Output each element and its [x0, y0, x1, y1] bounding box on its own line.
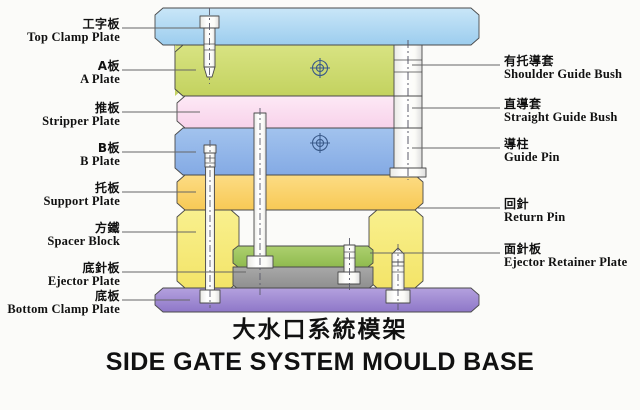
label-b-plate-cn: B板	[0, 142, 120, 155]
label-straight-guide-bush-cn: 直導套	[504, 98, 640, 111]
label-ejector-plate-cn: 底針板	[0, 262, 120, 275]
label-top-clamp-plate: 工字板 Top Clamp Plate	[0, 18, 120, 44]
label-guide-pin-en: Guide Pin	[504, 151, 640, 164]
label-ejector-retainer-plate: 面針板 Ejector Retainer Plate	[504, 243, 640, 269]
label-support-plate: 托板 Support Plate	[0, 182, 120, 208]
label-ejector-plate: 底針板 Ejector Plate	[0, 262, 120, 288]
label-return-pin: 回針 Return Pin	[504, 198, 640, 224]
label-spacer-block: 方鐵 Spacer Block	[0, 222, 120, 248]
diagram-title: 大水口系統模架 SIDE GATE SYSTEM MOULD BASE	[0, 310, 640, 377]
label-spacer-block-cn: 方鐵	[0, 222, 120, 235]
label-stripper-plate: 推板 Stripper Plate	[0, 102, 120, 128]
label-guide-pin: 導柱 Guide Pin	[504, 138, 640, 164]
label-straight-guide-bush: 直導套 Straight Guide Bush	[504, 98, 640, 124]
mould-base-diagram: 工字板 Top Clamp Plate A板 A Plate 推板 Stripp…	[0, 0, 640, 410]
label-ejector-retainer-plate-cn: 面針板	[504, 243, 640, 256]
stripper-plate	[177, 96, 419, 128]
label-ejector-retainer-plate-en: Ejector Retainer Plate	[504, 256, 640, 269]
label-stripper-plate-cn: 推板	[0, 102, 120, 115]
label-ejector-plate-en: Ejector Plate	[0, 275, 120, 288]
label-bottom-clamp-plate-cn: 底板	[0, 290, 120, 303]
label-a-plate-cn: A板	[0, 60, 120, 73]
label-a-plate: A板 A Plate	[0, 60, 120, 86]
label-straight-guide-bush-en: Straight Guide Bush	[504, 111, 640, 124]
label-stripper-plate-en: Stripper Plate	[0, 115, 120, 128]
label-shoulder-guide-bush-cn: 有托導套	[504, 55, 640, 68]
label-top-clamp-plate-cn: 工字板	[0, 18, 120, 31]
label-support-plate-en: Support Plate	[0, 195, 120, 208]
label-spacer-block-en: Spacer Block	[0, 235, 120, 248]
diagram-title-en: SIDE GATE SYSTEM MOULD BASE	[0, 348, 640, 377]
label-guide-pin-cn: 導柱	[504, 138, 640, 151]
diagram-title-cn: 大水口系統模架	[0, 310, 640, 344]
label-return-pin-en: Return Pin	[504, 211, 640, 224]
label-support-plate-cn: 托板	[0, 182, 120, 195]
label-top-clamp-plate-en: Top Clamp Plate	[0, 31, 120, 44]
label-b-plate: B板 B Plate	[0, 142, 120, 168]
label-shoulder-guide-bush-en: Shoulder Guide Bush	[504, 68, 640, 81]
label-shoulder-guide-bush: 有托導套 Shoulder Guide Bush	[504, 55, 640, 81]
label-return-pin-cn: 回針	[504, 198, 640, 211]
label-b-plate-en: B Plate	[0, 155, 120, 168]
label-a-plate-en: A Plate	[0, 73, 120, 86]
